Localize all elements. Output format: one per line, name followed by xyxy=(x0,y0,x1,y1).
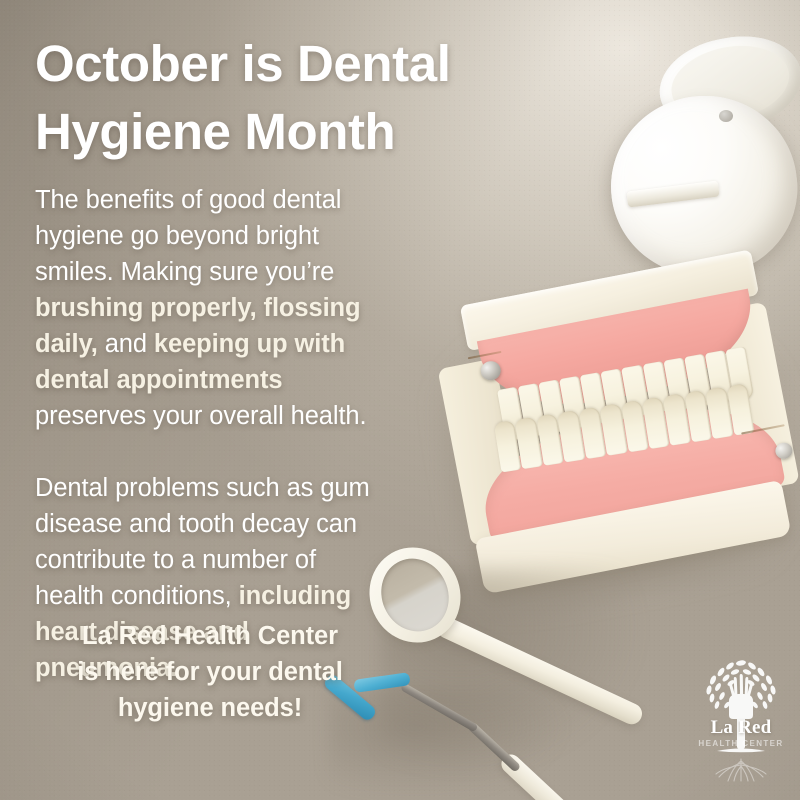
logo-name: La Red xyxy=(693,717,789,739)
page-title: October is DentalHygiene Month xyxy=(35,30,495,166)
headline-line-1: October is Dental xyxy=(35,35,450,92)
headline-line-2: Hygiene Month xyxy=(35,103,395,160)
cta-line-2: is here for your dental xyxy=(35,654,385,690)
floss-hinge xyxy=(719,110,733,122)
body-copy: The benefits of good dental hygiene go b… xyxy=(35,182,383,686)
logo-subtitle: HEALTH CENTER xyxy=(693,739,789,748)
p1-segment-2: and xyxy=(98,330,154,358)
la-red-health-center-logo: La Red HEALTH CENTER xyxy=(693,655,789,783)
p1-segment-3: preserves your overall health. xyxy=(35,402,367,430)
poster-canvas: October is DentalHygiene Month The benef… xyxy=(0,0,800,800)
dental-floss-container-image xyxy=(603,38,800,290)
paragraph-1: The benefits of good dental hygiene go b… xyxy=(35,182,383,434)
cta-line-3: hygiene needs! xyxy=(35,690,385,726)
p1-segment-1: The benefits of good dental hygiene go b… xyxy=(35,186,341,286)
tree-roots-icon xyxy=(716,759,766,781)
call-to-action: La Red Health Center is here for your de… xyxy=(35,618,385,726)
cta-line-1: La Red Health Center xyxy=(35,618,385,654)
